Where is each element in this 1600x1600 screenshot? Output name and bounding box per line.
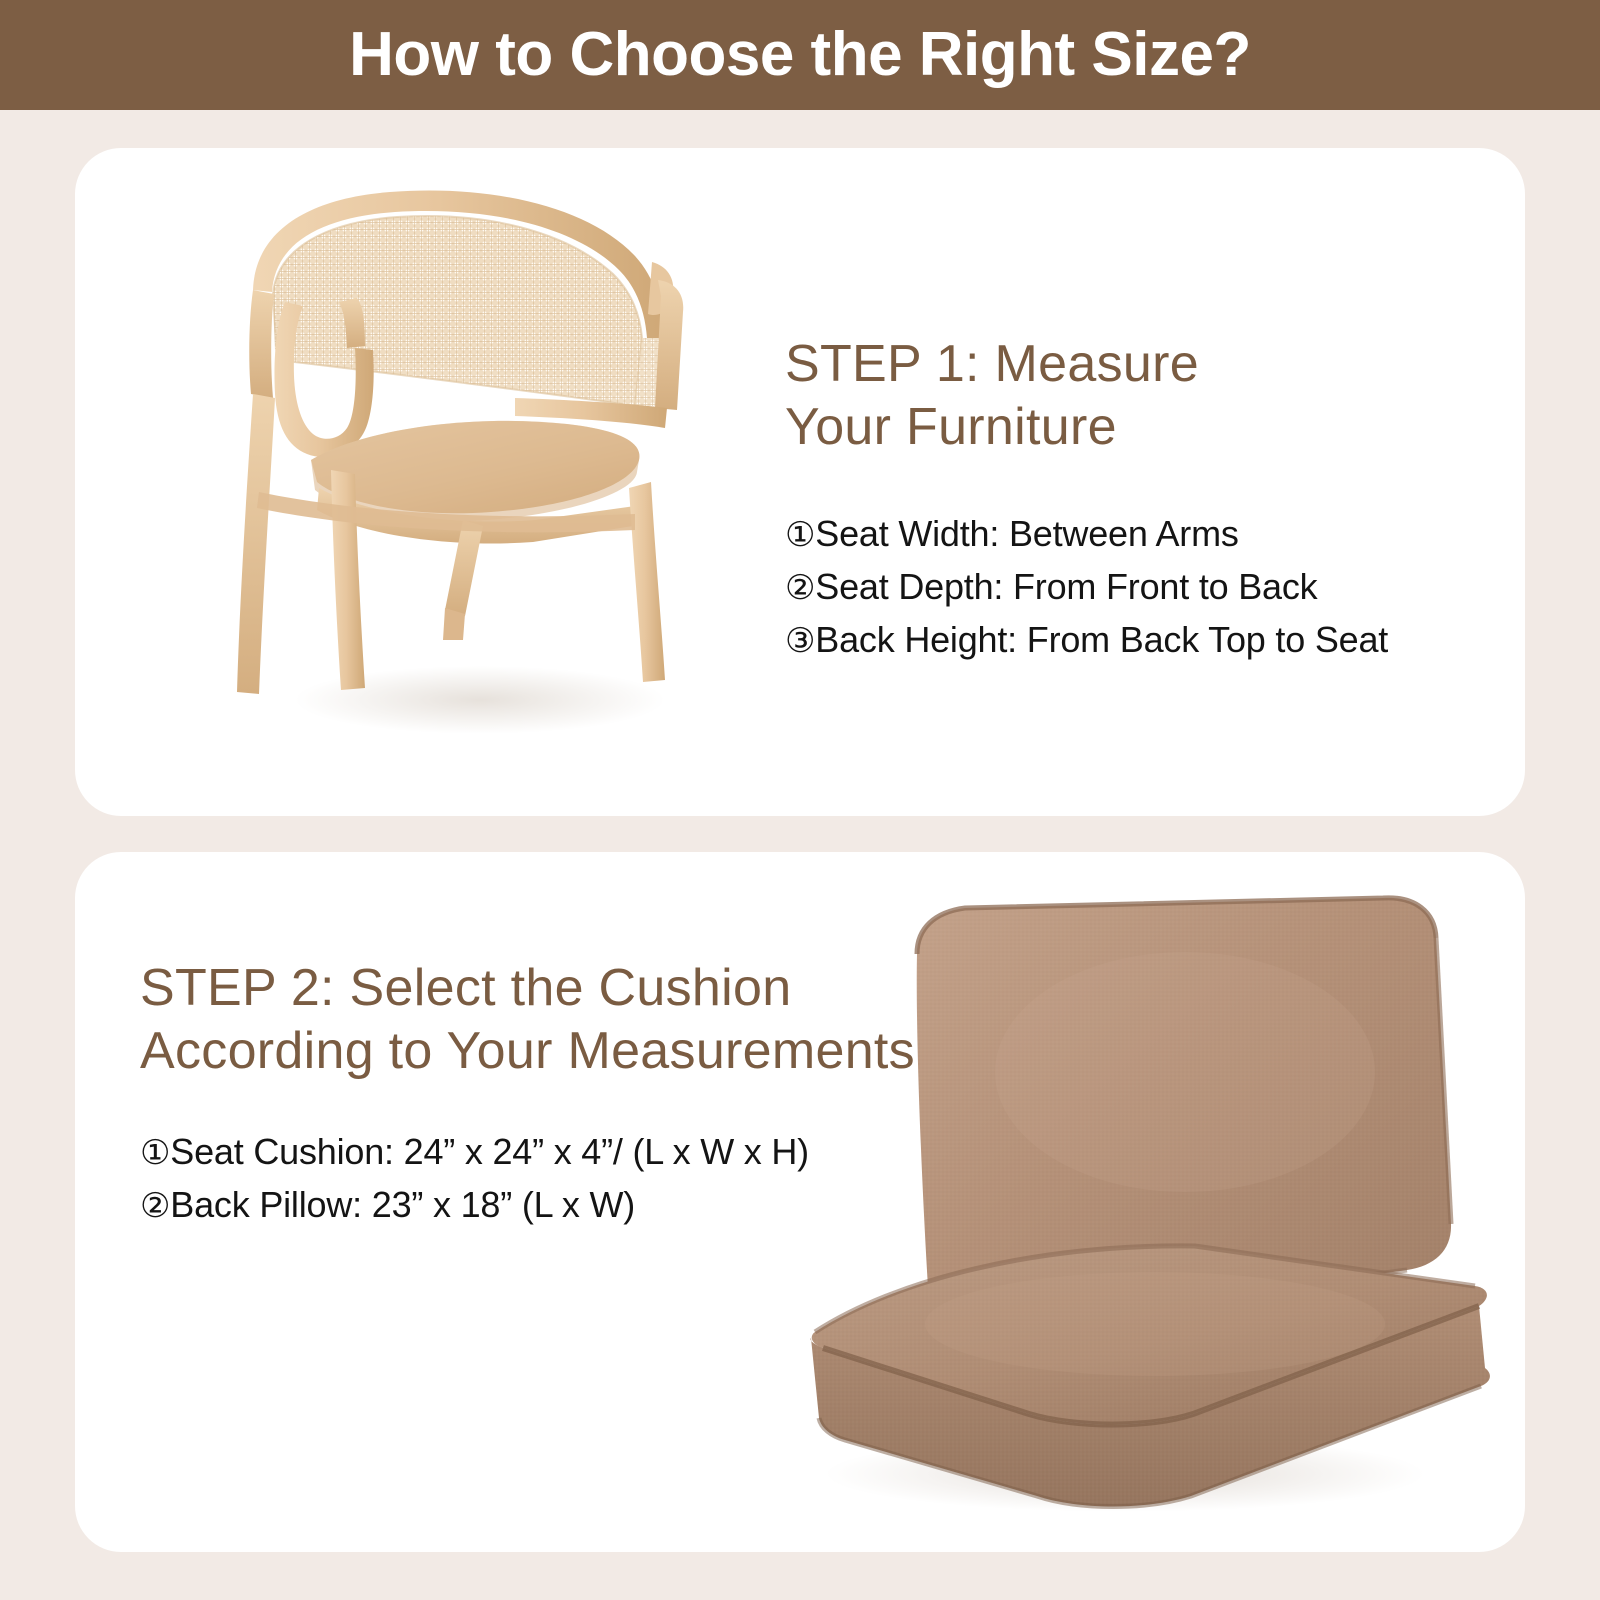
chair-leg-front-right <box>629 482 665 682</box>
list-number-1: ① <box>785 516 815 554</box>
chair-leg-back-left <box>237 394 275 694</box>
page-header-bar: How to Choose the Right Size? <box>0 0 1600 110</box>
list-text-1: Seat Cushion: 24” x 24” x 4”/ (L x W x H… <box>170 1131 809 1172</box>
step-1-card: STEP 1: Measure Your Furniture ①Seat Wid… <box>75 148 1525 816</box>
list-item: ③Back Height: From Back Top to Seat <box>785 614 1485 667</box>
step-1-heading-line-1: STEP 1: Measure <box>785 333 1485 396</box>
rattan-armchair-image <box>215 170 735 750</box>
chair-back-post-left <box>249 290 274 398</box>
list-text-1: Seat Width: Between Arms <box>815 513 1238 554</box>
list-number-2: ② <box>785 569 815 607</box>
list-text-2: Seat Depth: From Front to Back <box>815 566 1317 607</box>
step-1-text-block: STEP 1: Measure Your Furniture ①Seat Wid… <box>785 333 1485 667</box>
step-1-measurement-list: ①Seat Width: Between Arms ②Seat Depth: F… <box>785 508 1485 667</box>
step-1-heading-line-2: Your Furniture <box>785 396 1485 459</box>
step-1-heading: STEP 1: Measure Your Furniture <box>785 333 1485 460</box>
list-item: ①Seat Width: Between Arms <box>785 508 1485 561</box>
list-number-3: ③ <box>785 622 815 660</box>
list-number-1: ① <box>140 1134 170 1172</box>
list-text-3: Back Height: From Back Top to Seat <box>815 619 1388 660</box>
list-text-2: Back Pillow: 23” x 18” (L x W) <box>170 1184 635 1225</box>
list-item: ②Seat Depth: From Front to Back <box>785 561 1485 614</box>
list-number-2: ② <box>140 1187 170 1225</box>
step-2-card: STEP 2: Select the Cushion According to … <box>75 852 1525 1552</box>
infographic-page: How to Choose the Right Size? <box>0 0 1600 1600</box>
cushion-set-image <box>775 862 1495 1522</box>
page-title: How to Choose the Right Size? <box>349 24 1251 86</box>
